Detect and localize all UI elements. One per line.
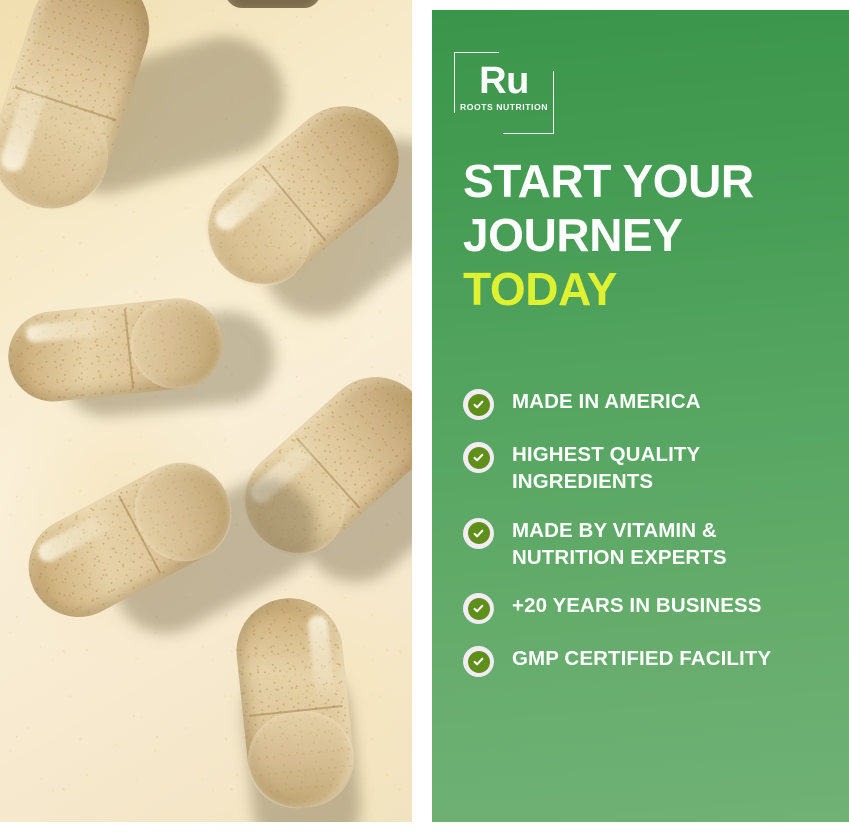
benefit-label: MADE IN AMERICA bbox=[512, 388, 701, 415]
check-circle-icon bbox=[463, 518, 494, 549]
benefit-label: HIGHEST QUALITY INGREDIENTS bbox=[512, 441, 833, 496]
headline-line-2: JOURNEY bbox=[463, 209, 823, 263]
list-item: GMP CERTIFIED FACILITY bbox=[463, 645, 833, 677]
capsule-body bbox=[225, 0, 321, 8]
check-circle-icon bbox=[463, 593, 494, 624]
list-item: HIGHEST QUALITY INGREDIENTS bbox=[463, 441, 833, 496]
promo-poster: Ru ROOTS NUTRITION START YOUR JOURNEY TO… bbox=[0, 0, 849, 840]
list-item: +20 YEARS IN BUSINESS bbox=[463, 592, 833, 624]
benefit-label: GMP CERTIFIED FACILITY bbox=[512, 645, 771, 672]
list-item: MADE IN AMERICA bbox=[463, 388, 833, 420]
logo-subtitle: ROOTS NUTRITION bbox=[454, 102, 554, 112]
headline-line-1: START YOUR bbox=[463, 155, 823, 209]
benefit-label: +20 YEARS IN BUSINESS bbox=[512, 592, 762, 619]
benefits-list: MADE IN AMERICA HIGHEST QUALITY INGREDIE… bbox=[463, 388, 833, 677]
page-title: START YOUR JOURNEY TODAY bbox=[463, 155, 823, 316]
content-panel: Ru ROOTS NUTRITION START YOUR JOURNEY TO… bbox=[432, 10, 849, 822]
list-item: MADE BY VITAMIN & NUTRITION EXPERTS bbox=[463, 517, 833, 572]
capsule-partial bbox=[225, 0, 321, 8]
headline-accent-line: TODAY bbox=[463, 263, 823, 317]
check-circle-icon bbox=[463, 389, 494, 420]
logo-mark: Ru bbox=[454, 62, 554, 100]
brand-logo: Ru ROOTS NUTRITION bbox=[454, 52, 554, 134]
check-circle-icon bbox=[463, 646, 494, 677]
product-photo bbox=[0, 0, 412, 822]
benefit-label: MADE BY VITAMIN & NUTRITION EXPERTS bbox=[512, 517, 833, 572]
check-circle-icon bbox=[463, 442, 494, 473]
